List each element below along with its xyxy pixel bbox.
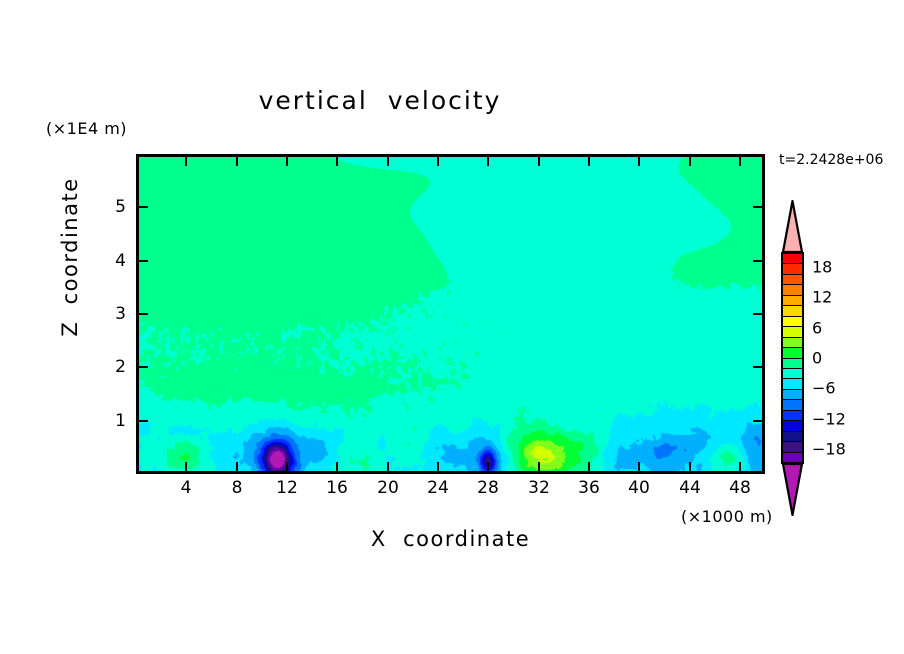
- colorbar-tick-label: −12: [812, 409, 846, 428]
- colorbar-tick-label: −6: [812, 379, 836, 398]
- colorbar-tick-label: −18: [812, 439, 846, 458]
- colorbar-tick-label: 12: [812, 288, 832, 307]
- colorbar-label-layer: 181260−6−12−18: [0, 0, 904, 654]
- colorbar-tick-label: 0: [812, 349, 822, 368]
- colorbar-tick-label: 18: [812, 258, 832, 277]
- figure-root: vertical velocity (×1E4 m) t=2.2428e+06 …: [0, 0, 904, 654]
- colorbar-tick-label: 6: [812, 318, 822, 337]
